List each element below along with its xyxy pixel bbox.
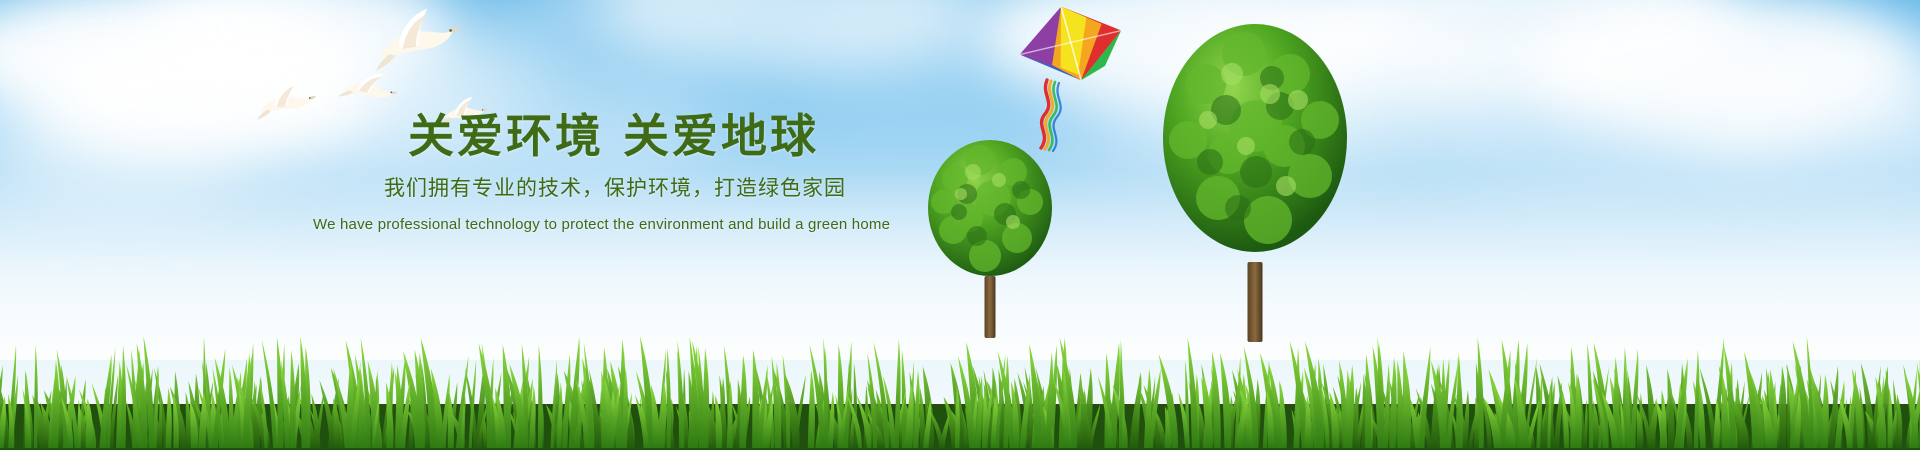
rainbow-kite-icon <box>985 2 1145 152</box>
dove-2-icon <box>253 78 320 126</box>
cloud-puff <box>1420 70 1800 180</box>
banner-headline: 关爱环境 关爱地球 <box>408 113 819 159</box>
banner-subtitle-chinese: 我们拥有专业的技术，保护环境，打造绿色家园 <box>384 178 846 199</box>
grass-blades <box>0 320 1920 450</box>
grass-foreground <box>0 320 1920 450</box>
eco-hero-banner: 关爱环境 关爱地球 我们拥有专业的技术，保护环境，打造绿色家园 We have … <box>0 0 1920 450</box>
tree-large <box>1160 22 1350 342</box>
banner-subtitle-english: We have professional technology to prote… <box>313 217 890 232</box>
tree-small <box>925 138 1055 338</box>
